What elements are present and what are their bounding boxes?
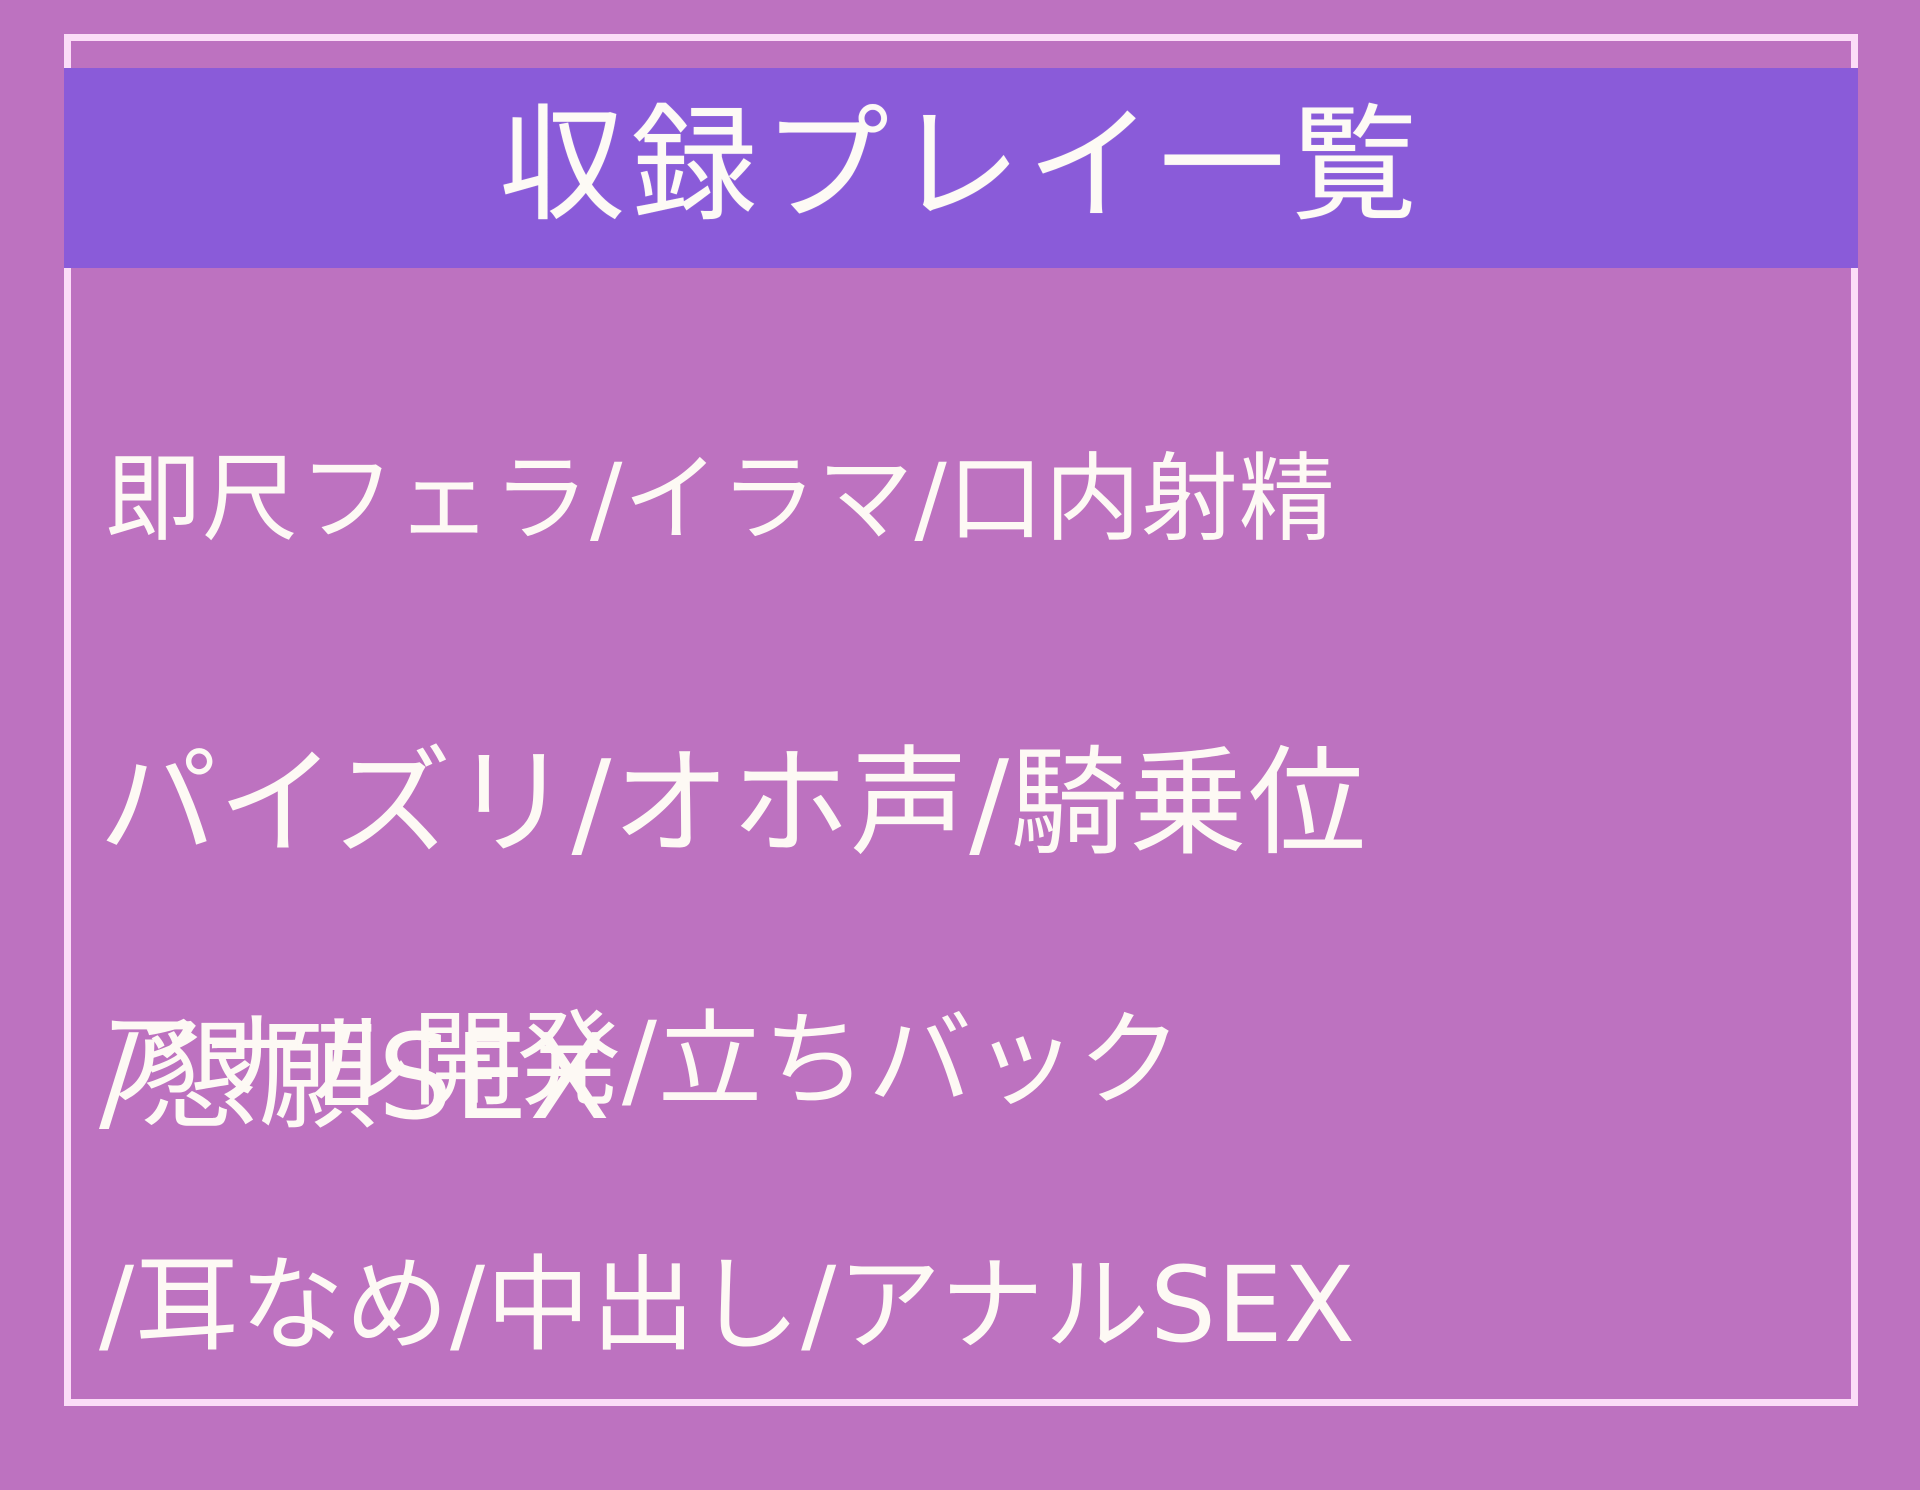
- header-banner: 収録プレイ一覧: [64, 68, 1858, 268]
- page-title: 収録プレイ一覧: [499, 103, 1423, 229]
- play-list-line: パイズリ/オホ声/騎乗位: [99, 735, 1367, 872]
- play-list-line: /耳なめ/中出し/アナルSEX: [99, 1244, 1356, 1367]
- play-list-line: 即尺フェラ/イラマ/口内射精: [105, 443, 1336, 556]
- play-list-body: 即尺フェラ/イラマ/口内射精 パイズリ/オホ声/騎乗位 /懇願SEX アナル開発…: [71, 268, 1851, 1399]
- poster-canvas: 収録プレイ一覧 即尺フェラ/イラマ/口内射精 パイズリ/オホ声/騎乗位 /懇願S…: [0, 0, 1920, 1440]
- play-list-block-3: アナル開発/立ちバック /耳なめ/中出し/アナルSEX: [99, 876, 1356, 1490]
- play-list-line: アナル開発/立ちバック: [99, 999, 1356, 1122]
